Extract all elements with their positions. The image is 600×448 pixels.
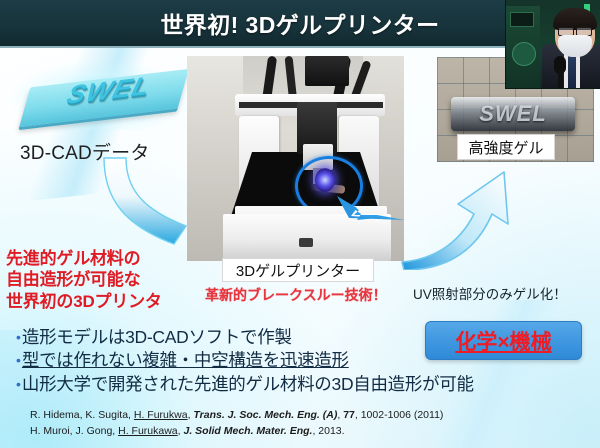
printer-caption-label: 3Dゲルプリンター bbox=[222, 258, 374, 282]
uv-callout-arrow-icon bbox=[337, 194, 404, 220]
bullet-text: 造形モデルは3D-CADソフトで作製 bbox=[22, 326, 292, 349]
webcam-overlay[interactable] bbox=[505, 0, 600, 89]
citation-footer: R. Hidema, K. Sugita, H. Furukwa, Trans.… bbox=[30, 408, 590, 440]
gel-caption-text: 高強度ゲル bbox=[468, 137, 543, 158]
red-line-1: 先進的ゲル材料の bbox=[6, 248, 201, 269]
citation-volume: 77 bbox=[343, 409, 355, 421]
microphone-handle bbox=[558, 70, 563, 88]
citation-pages-year: , 2013. bbox=[312, 425, 344, 437]
citation-journal: J. Solid Mech. Mater. Eng. bbox=[184, 425, 313, 437]
printer-photo bbox=[187, 56, 404, 261]
citation-author-highlight: H. Furukawa bbox=[118, 425, 178, 437]
flow-arrow-printer-to-gel bbox=[400, 150, 530, 270]
slide-canvas: 世界初! 3Dゲルプリンター SWEL 3D-CADデータ bbox=[0, 0, 600, 448]
list-item: • 造形モデルは3D-CADソフトで作製 bbox=[16, 326, 446, 349]
printer-caption-text: 3Dゲルプリンター bbox=[236, 260, 360, 281]
bullet-marker-icon: • bbox=[16, 326, 21, 349]
printer-logo bbox=[299, 238, 313, 247]
chemistry-mechanics-text: 化学×機械 bbox=[455, 326, 551, 356]
citation-journal: Trans. J. Soc. Mech. Eng. (A) bbox=[193, 409, 337, 421]
list-item: • 型では作れない複雑・中空構造を迅速造形 bbox=[16, 349, 446, 372]
bullet-marker-icon: • bbox=[16, 373, 21, 396]
printer-motor bbox=[305, 56, 349, 86]
bullet-marker-icon: • bbox=[16, 349, 21, 372]
citation-authors: H. Muroi, J. Gong, bbox=[30, 425, 118, 437]
citation-row: H. Muroi, J. Gong, H. Furukawa, J. Solid… bbox=[30, 424, 590, 440]
presenter-tie bbox=[568, 52, 576, 88]
bullet-text: 山形大学で開発された先進的ゲル材料の3D自由造形が可能 bbox=[22, 373, 474, 396]
webcam-wall-logo bbox=[512, 42, 536, 66]
uv-gelation-note: UV照射部分のみゲル化！ bbox=[413, 283, 598, 303]
page-title: 世界初! 3Dゲルプリンター bbox=[160, 6, 439, 40]
citation-author-highlight: H. Furukwa bbox=[134, 409, 188, 421]
chemistry-mechanics-box: 化学×機械 bbox=[425, 321, 582, 360]
citation-row: R. Hidema, K. Sugita, H. Furukwa, Trans.… bbox=[30, 408, 590, 424]
citation-authors: R. Hidema, K. Sugita, bbox=[30, 409, 134, 421]
flow-arrow-cad-to-printer bbox=[100, 152, 190, 252]
citation-pages-year: , 1002-1006 (2011) bbox=[355, 409, 444, 421]
presenter-face-mask bbox=[558, 35, 592, 57]
red-line-3: 世界初の3Dプリンタ bbox=[6, 291, 201, 312]
breakthrough-note: 革新的ブレークスルー技術！ bbox=[205, 285, 405, 305]
red-emphasis-text: 先進的ゲル材料の 自由造形が可能な 世界初の3Dプリンタ bbox=[6, 248, 201, 312]
gel-object-label: SWEL bbox=[451, 97, 575, 131]
bullet-list: • 造形モデルは3D-CADソフトで作製 • 型では作れない複雑・中空構造を迅速… bbox=[16, 326, 446, 396]
bullet-text: 型では作れない複雑・中空構造を迅速造形 bbox=[22, 349, 349, 372]
red-line-2: 自由造形が可能な bbox=[6, 269, 201, 290]
list-item: • 山形大学で開発された先進的ゲル材料の3D自由造形が可能 bbox=[16, 373, 446, 396]
gel-caption-label: 高強度ゲル bbox=[457, 134, 555, 160]
webcam-wall-sign bbox=[510, 12, 534, 27]
